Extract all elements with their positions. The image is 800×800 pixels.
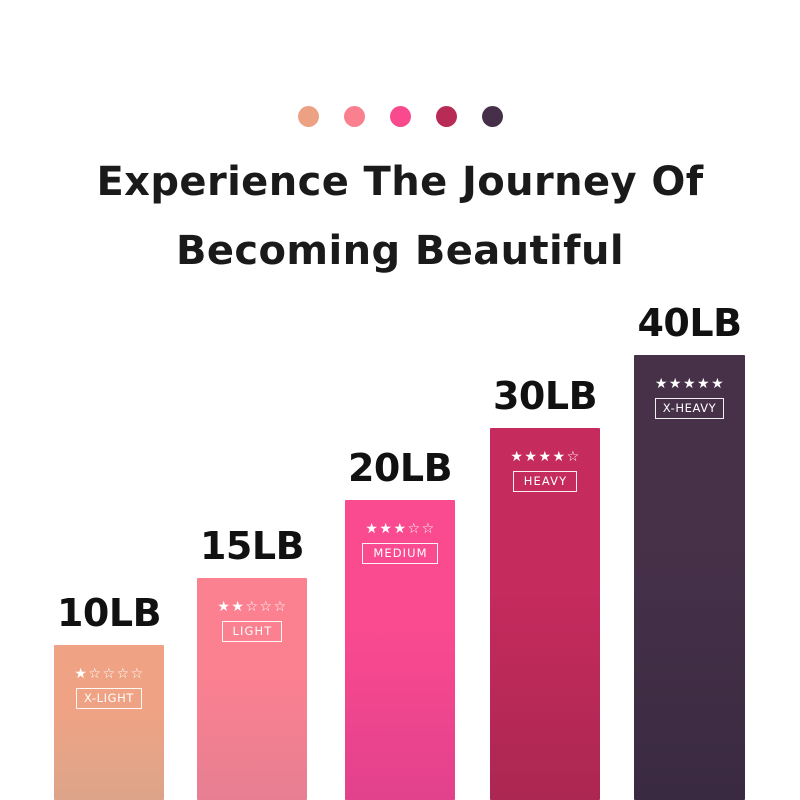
- star-filled-icon: ★: [524, 450, 537, 464]
- star-filled-icon: ★: [683, 377, 696, 391]
- star-empty-icon: ☆: [245, 600, 258, 614]
- star-filled-icon: ★: [74, 667, 87, 681]
- star-filled-icon: ★: [538, 450, 551, 464]
- star-filled-icon: ★: [697, 377, 710, 391]
- star-filled-icon: ★: [393, 522, 406, 536]
- star-empty-icon: ☆: [88, 667, 101, 681]
- bar-weight-label-10lb: 10LB: [57, 591, 161, 635]
- bar-info-40lb: ★★★★★X-HEAVY: [634, 377, 745, 419]
- star-empty-icon: ☆: [102, 667, 115, 681]
- star-empty-icon: ☆: [567, 450, 580, 464]
- bar-info-10lb: ★☆☆☆☆X-LIGHT: [54, 667, 164, 709]
- bar-info-15lb: ★★☆☆☆LIGHT: [197, 600, 307, 642]
- star-rating-20lb: ★★★☆☆: [365, 522, 434, 536]
- bar-group-30lb[interactable]: 30LB★★★★☆HEAVY: [490, 428, 600, 800]
- star-empty-icon: ☆: [408, 522, 421, 536]
- star-filled-icon: ★: [217, 600, 230, 614]
- bar-weight-label-30lb: 30LB: [493, 374, 597, 418]
- bar-group-15lb[interactable]: 15LB★★☆☆☆LIGHT: [197, 578, 307, 800]
- bar-group-10lb[interactable]: 10LB★☆☆☆☆X-LIGHT: [54, 645, 164, 800]
- star-rating-40lb: ★★★★★: [655, 377, 724, 391]
- star-empty-icon: ☆: [131, 667, 144, 681]
- star-filled-icon: ★: [711, 377, 724, 391]
- bar-group-20lb[interactable]: 20LB★★★☆☆MEDIUM: [345, 500, 455, 800]
- star-empty-icon: ☆: [274, 600, 287, 614]
- star-filled-icon: ★: [379, 522, 392, 536]
- bar-group-40lb[interactable]: 40LB★★★★★X-HEAVY: [634, 355, 745, 800]
- star-filled-icon: ★: [365, 522, 378, 536]
- bar-weight-label-15lb: 15LB: [200, 524, 304, 568]
- star-rating-15lb: ★★☆☆☆: [217, 600, 286, 614]
- star-filled-icon: ★: [510, 450, 523, 464]
- star-empty-icon: ☆: [422, 522, 435, 536]
- tier-badge-30lb: HEAVY: [513, 471, 577, 492]
- bar-info-20lb: ★★★☆☆MEDIUM: [345, 522, 455, 564]
- bar-weight-label-40lb: 40LB: [637, 301, 741, 345]
- bar-info-30lb: ★★★★☆HEAVY: [490, 450, 600, 492]
- tier-badge-15lb: LIGHT: [222, 621, 283, 642]
- tier-badge-40lb: X-HEAVY: [655, 398, 725, 419]
- star-filled-icon: ★: [669, 377, 682, 391]
- star-filled-icon: ★: [231, 600, 244, 614]
- star-filled-icon: ★: [553, 450, 566, 464]
- tier-badge-20lb: MEDIUM: [362, 543, 437, 564]
- tier-badge-10lb: X-LIGHT: [76, 688, 142, 709]
- star-filled-icon: ★: [655, 377, 668, 391]
- star-rating-10lb: ★☆☆☆☆: [74, 667, 143, 681]
- bar-weight-label-20lb: 20LB: [348, 446, 452, 490]
- star-empty-icon: ☆: [260, 600, 273, 614]
- resistance-band-bar-chart: 10LB★☆☆☆☆X-LIGHT15LB★★☆☆☆LIGHT20LB★★★☆☆M…: [0, 0, 800, 800]
- product-poster: Experience The Journey Of Becoming Beaut…: [0, 0, 800, 800]
- star-empty-icon: ☆: [117, 667, 130, 681]
- bar-40lb: [634, 355, 745, 800]
- star-rating-30lb: ★★★★☆: [510, 450, 579, 464]
